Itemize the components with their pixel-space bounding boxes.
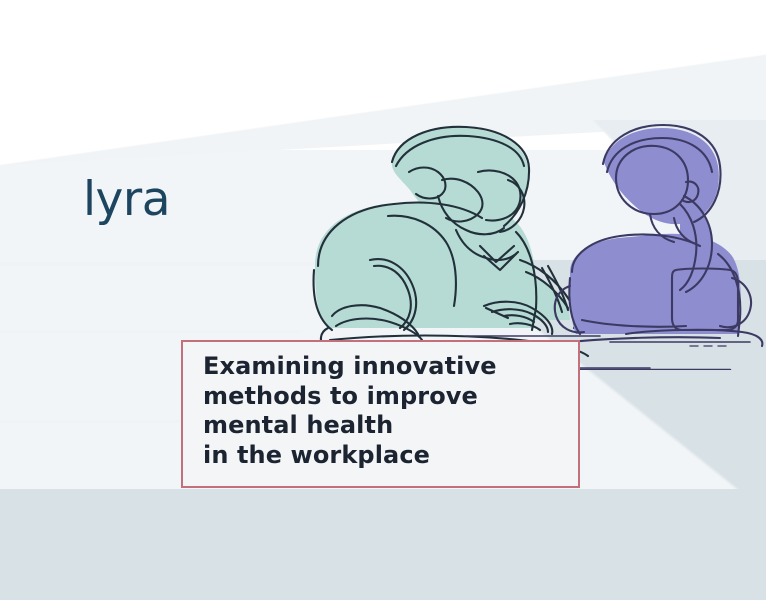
person-writing-teal-group	[270, 127, 588, 356]
illustration-two-colleagues	[270, 120, 766, 370]
background-streak-3	[0, 420, 200, 423]
banner-canvas: lyra	[0, 0, 766, 600]
lyra-logo: lyra	[83, 176, 170, 223]
background-bottom-band	[0, 489, 766, 600]
background-streak-2	[0, 330, 300, 333]
headline-text: Examining innovative methods to improve …	[203, 352, 573, 470]
